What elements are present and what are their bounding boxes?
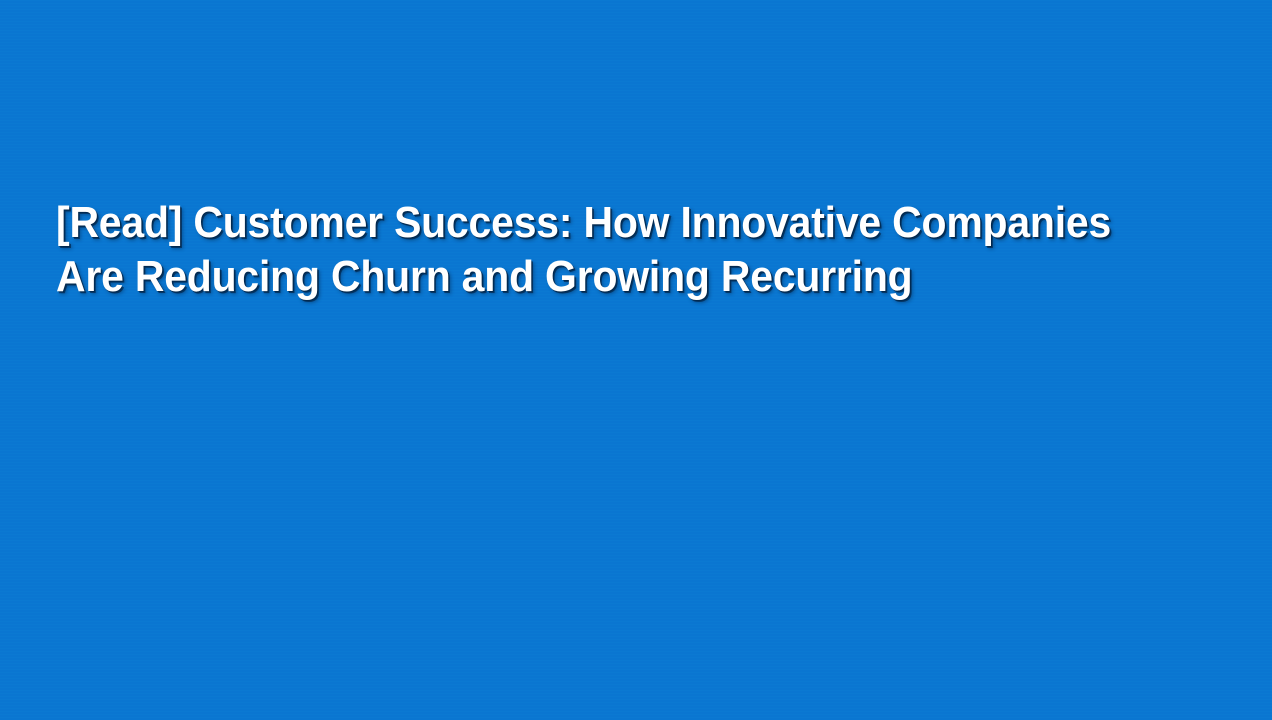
headline-line-2: Are Reducing Churn and Growing Recurring [56, 250, 1272, 304]
headline: [Read] Customer Success: How Innovative … [56, 196, 1272, 304]
background-texture [0, 0, 1272, 720]
promo-slide: [Read] Customer Success: How Innovative … [0, 0, 1272, 720]
headline-line-1: [Read] Customer Success: How Innovative … [56, 196, 1272, 250]
